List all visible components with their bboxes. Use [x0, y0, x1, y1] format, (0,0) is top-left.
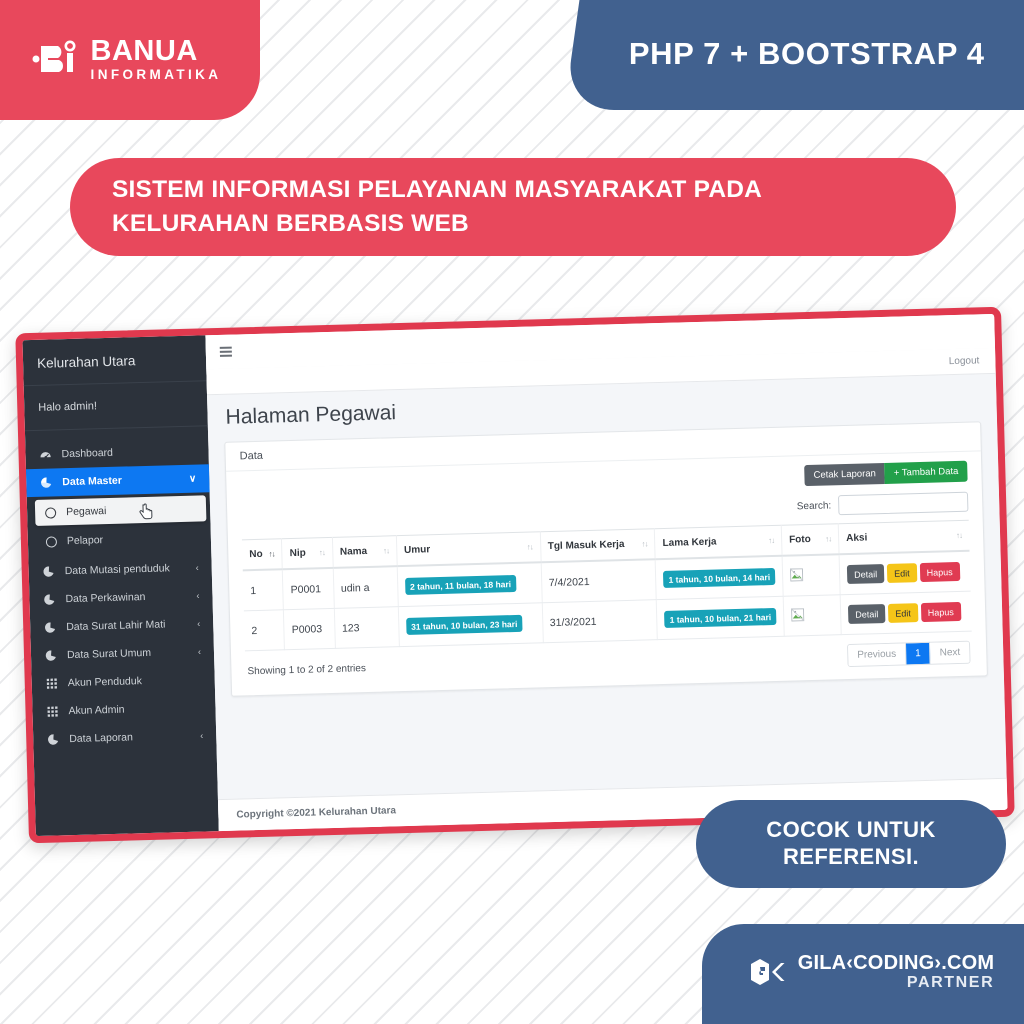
col-aksi[interactable]: Aksi↑↓	[838, 520, 969, 554]
cocok-referensi-badge: COCOK UNTUK REFERENSI.	[696, 800, 1006, 888]
sidebar-item-label: Data Surat Umum	[67, 646, 189, 661]
cell-foto	[782, 554, 840, 596]
page-title: Halaman Pegawai	[225, 385, 978, 429]
main-content: Logout Halaman Pegawai Data Cetak Lapora…	[205, 314, 1007, 831]
chevron-down-icon: ∨	[189, 473, 197, 484]
pie-chart-icon	[42, 565, 56, 577]
logo-primary-text: BANUA	[91, 37, 222, 66]
sort-arrow-icon: ↑↓	[956, 531, 962, 540]
cell-aksi: Detail Edit Hapus	[840, 591, 971, 635]
col-umur[interactable]: Umur↑↓	[396, 532, 541, 566]
umur-badge: 31 tahun, 10 bulan, 23 hari	[406, 615, 523, 635]
pie-chart-icon	[46, 733, 60, 745]
gilacoding-hex-g-icon	[748, 957, 790, 987]
pagination-page-1[interactable]: 1	[906, 643, 931, 665]
chevron-left-icon: ‹	[200, 730, 203, 740]
sidebar-item-pelapor[interactable]: Pelapor	[36, 524, 208, 555]
pegawai-table: No↑↓ Nip↑↓ Nama↑↓ Umur↑↓ Tgl Masuk Kerja…	[242, 520, 972, 652]
sidebar-greeting: Halo admin!	[24, 381, 208, 431]
logout-link[interactable]: Logout	[949, 355, 980, 367]
detail-button[interactable]: Detail	[848, 604, 886, 624]
col-no[interactable]: No↑↓	[242, 539, 283, 571]
project-title-banner: SISTEM INFORMASI PELAYANAN MASYARAKAT PA…	[70, 158, 956, 256]
chevron-left-icon: ‹	[197, 619, 200, 629]
circle-icon	[45, 507, 56, 518]
hamburger-icon[interactable]	[220, 347, 232, 357]
cell-umur: 31 tahun, 10 bulan, 23 hari	[398, 603, 543, 647]
col-nip[interactable]: Nip↑↓	[282, 537, 333, 569]
project-title-line2: KELURAHAN BERBASIS WEB	[112, 207, 956, 241]
sidebar-item-label: Data Laporan	[69, 730, 191, 745]
umur-badge: 2 tahun, 11 bulan, 18 hari	[405, 575, 517, 595]
card-body: Cetak Laporan + Tambah Data Search: No↑↓…	[226, 451, 987, 695]
grid-icon	[45, 678, 59, 689]
sidebar-brand[interactable]: Kelurahan Utara	[22, 335, 206, 386]
col-tgl-masuk-kerja[interactable]: Tgl Masuk Kerja↑↓	[540, 529, 656, 563]
hapus-button[interactable]: Hapus	[920, 602, 961, 622]
project-title-line1: SISTEM INFORMASI PELAYANAN MASYARAKAT PA…	[112, 173, 956, 207]
sort-arrow-icon: ↑↓	[319, 548, 325, 557]
cell-lama-kerja: 1 tahun, 10 bulan, 14 hari	[656, 556, 784, 600]
broken-image-icon	[790, 568, 803, 581]
broken-image-icon	[791, 608, 804, 621]
sidebar: Kelurahan Utara Halo admin! Dashboard	[22, 335, 218, 836]
cocok-line2: REFERENSI.	[783, 844, 919, 871]
mouse-cursor-pointer-icon	[138, 503, 154, 521]
app-screenshot-frame: Kelurahan Utara Halo admin! Dashboard	[15, 307, 1014, 843]
sort-arrow-icon: ↑↓	[641, 539, 647, 548]
col-nama[interactable]: Nama↑↓	[332, 536, 397, 568]
pie-chart-icon	[42, 593, 56, 605]
pagination: Previous 1 Next	[847, 641, 971, 667]
column-label: Aksi	[846, 532, 867, 544]
sidebar-item-label: Data Master	[62, 473, 180, 488]
lama-kerja-badge: 1 tahun, 10 bulan, 21 hari	[664, 608, 776, 628]
column-label: Umur	[404, 544, 430, 556]
cell-lama-kerja: 1 tahun, 10 bulan, 21 hari	[657, 596, 785, 639]
cell-nip: P0003	[284, 608, 335, 649]
hapus-button[interactable]: Hapus	[919, 562, 960, 582]
column-label: No	[249, 549, 263, 560]
pagination-next[interactable]: Next	[930, 642, 969, 664]
data-card: Data Cetak Laporan + Tambah Data Search:	[224, 421, 988, 696]
sidebar-item-label: Dashboard	[61, 445, 195, 461]
poster-stage: BANUA INFORMATIKA PHP 7 + BOOTSTRAP 4 SI…	[0, 0, 1024, 1024]
cocok-line1: COCOK UNTUK	[766, 817, 935, 844]
sidebar-menu: Dashboard Data Master ∨ Pegawai	[25, 426, 219, 836]
cell-tgl-masuk-kerja: 7/4/2021	[541, 559, 657, 603]
banua-logo-banner: BANUA INFORMATIKA	[0, 0, 260, 120]
sidebar-item-label: Akun Penduduk	[68, 674, 202, 690]
col-lama-kerja[interactable]: Lama Kerja↑↓	[655, 525, 782, 559]
sort-arrow-icon: ↑↓	[527, 543, 533, 552]
sidebar-item-pegawai[interactable]: Pegawai	[35, 495, 207, 526]
detail-button[interactable]: Detail	[847, 564, 885, 584]
circle-icon	[46, 536, 57, 547]
sort-arrow-icon: ↑↓	[768, 536, 774, 545]
sidebar-item-label: Data Mutasi penduduk	[65, 562, 187, 577]
col-foto[interactable]: Foto↑↓	[781, 524, 839, 556]
cell-no: 2	[244, 610, 285, 651]
search-label: Search:	[797, 500, 832, 512]
tech-stack-label: PHP 7 + BOOTSTRAP 4	[629, 36, 985, 72]
pie-chart-icon	[39, 476, 53, 488]
partner-domain-text: GILA‹CODING›.COM	[798, 953, 995, 975]
column-label: Tgl Masuk Kerja	[548, 539, 625, 552]
sort-arrow-icon: ↑↓	[825, 534, 831, 543]
tambah-data-button[interactable]: + Tambah Data	[885, 461, 968, 484]
pie-chart-icon	[43, 621, 57, 633]
pagination-previous[interactable]: Previous	[848, 643, 906, 666]
cell-nama: 123	[334, 607, 399, 649]
logo-secondary-text: INFORMATIKA	[91, 68, 222, 82]
column-label: Nip	[290, 548, 306, 559]
cell-no: 1	[243, 569, 284, 611]
partner-label-text: PARTNER	[907, 974, 994, 991]
cell-nip: P0001	[283, 568, 334, 610]
column-label: Foto	[789, 534, 811, 546]
cell-tgl-masuk-kerja: 31/3/2021	[542, 600, 658, 643]
chevron-left-icon: ‹	[196, 591, 199, 601]
column-label: Lama Kerja	[662, 537, 716, 549]
edit-button[interactable]: Edit	[888, 603, 918, 623]
chevron-left-icon: ‹	[196, 563, 199, 573]
grid-icon	[45, 706, 59, 717]
chevron-left-icon: ‹	[198, 647, 201, 657]
cell-nama: udin a	[333, 566, 398, 608]
sort-arrow-icon: ↑↓	[269, 549, 275, 558]
sidebar-item-label: Akun Admin	[68, 702, 202, 718]
lama-kerja-badge: 1 tahun, 10 bulan, 14 hari	[663, 568, 775, 588]
search-input[interactable]	[838, 492, 968, 516]
sidebar-item-label: Data Surat Lahir Mati	[66, 618, 188, 633]
gilacoding-partner-banner: GILA‹CODING›.COM PARTNER	[702, 924, 1024, 1024]
pie-chart-icon	[44, 649, 58, 661]
banua-bi-logo-icon	[29, 35, 87, 83]
entries-info: Showing 1 to 2 of 2 entries	[247, 663, 366, 677]
sort-arrow-icon: ↑↓	[383, 546, 389, 555]
tech-stack-banner: PHP 7 + BOOTSTRAP 4	[564, 0, 1024, 110]
cell-umur: 2 tahun, 11 bulan, 18 hari	[397, 562, 542, 606]
sidebar-item-label: Pelapor	[67, 534, 104, 547]
cell-aksi: Detail Edit Hapus	[839, 551, 971, 595]
cell-foto	[783, 595, 841, 637]
sidebar-item-data-master[interactable]: Data Master ∨	[26, 464, 210, 497]
sidebar-item-label: Data Perkawinan	[65, 590, 187, 605]
dashboard-gauge-icon	[38, 448, 52, 460]
sidebar-item-label: Pegawai	[66, 505, 107, 518]
column-label: Nama	[340, 546, 368, 558]
cetak-laporan-button[interactable]: Cetak Laporan	[804, 463, 885, 486]
sidebar-item-data-laporan[interactable]: Data Laporan ‹	[33, 721, 217, 754]
edit-button[interactable]: Edit	[887, 563, 917, 583]
